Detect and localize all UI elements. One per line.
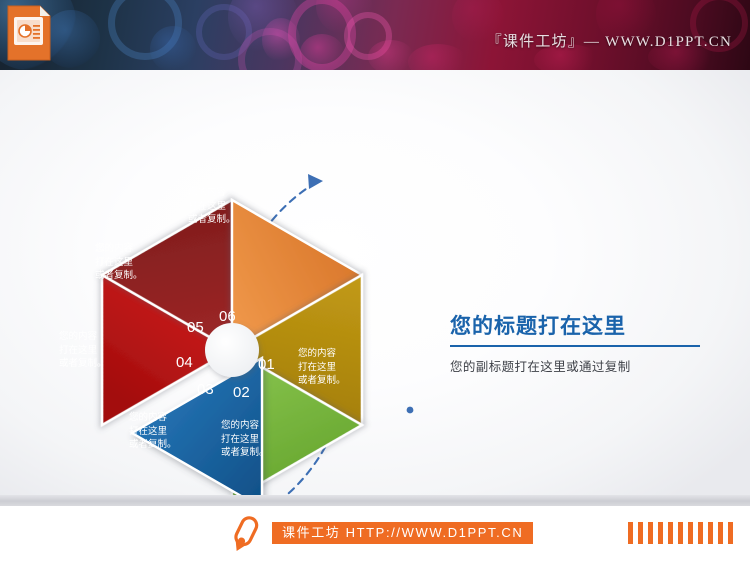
pie-slice-text-01: 您的内容 打在这里 或者复制。 [298, 347, 346, 388]
slide-header: 『课件工坊』— WWW.D1PPT.CN [0, 0, 750, 70]
footer-stripe [638, 522, 643, 544]
powerpoint-document-icon [6, 4, 52, 62]
pie-slice-number-04: 04 [176, 354, 193, 371]
slice-text-line: 您的内容 [95, 242, 143, 256]
footer-stripe [698, 522, 703, 544]
slice-text-line: 您的内容 [221, 419, 269, 433]
footer-stripe [678, 522, 683, 544]
footer-stripe [668, 522, 673, 544]
slide: 『课件工坊』— WWW.D1PPT.CN [0, 0, 750, 563]
footer-stripe [718, 522, 723, 544]
pencil-icon [228, 515, 262, 555]
footer-url-text[interactable]: 课件工坊 HTTP://WWW.D1PPT.CN [272, 522, 533, 544]
pie-slice-number-05: 05 [187, 319, 204, 336]
title-underline [450, 345, 700, 347]
slice-text-line: 您的内容 [59, 330, 107, 344]
slice-text-line: 您的内容 [298, 347, 346, 361]
footer-stripe [628, 522, 633, 544]
slice-text-line: 或者复制。 [59, 357, 107, 371]
slice-text-line: 打在这里 [59, 344, 107, 358]
slide-body: 06 05 04 03 02 01 您的内容 打在这里 或者复制。 您的内容 打… [0, 70, 750, 495]
slice-text-line: 或者复制。 [298, 374, 346, 388]
slice-text-line: 打在这里 [188, 200, 236, 214]
slice-text-line: 打在这里 [298, 361, 346, 375]
header-title: 『课件工坊』— WWW.D1PPT.CN [487, 30, 732, 51]
sub-title: 您的副标题打在这里或通过复制 [450, 356, 730, 375]
bokeh-circle [150, 26, 196, 70]
pie-slice-text-03: 您的内容 打在这里 或者复制。 [129, 411, 177, 452]
slice-text-line: 打在这里 [95, 256, 143, 270]
slice-text-line: 您的内容 [188, 186, 236, 200]
main-title: 您的标题打在这里 [450, 310, 730, 340]
slice-text-line: 打在这里 [221, 433, 269, 447]
slice-text-line: 或者复制。 [129, 438, 177, 452]
bokeh-circle [408, 44, 468, 70]
pie-slice-text-05: 您的内容 打在这里 或者复制。 [95, 242, 143, 283]
pie-slice-number-03: 03 [197, 381, 214, 398]
bokeh-circle [368, 40, 414, 70]
slice-text-line: 您的内容 [129, 411, 177, 425]
slice-text-line: 或者复制。 [95, 269, 143, 283]
pie-slice-number-02: 02 [233, 384, 250, 401]
pie-slice-text-04: 您的内容 打在这里 或者复制。 [59, 330, 107, 371]
slice-text-line: 或者复制。 [221, 446, 269, 460]
footer-divider-band [0, 495, 750, 506]
pie-slice-number-06: 06 [219, 308, 236, 325]
pie-slice-text-02: 您的内容 打在这里 或者复制。 [221, 419, 269, 460]
footer-stripe [648, 522, 653, 544]
footer-stripe [708, 522, 713, 544]
footer-stripes [628, 522, 750, 544]
footer-stripe [658, 522, 663, 544]
slice-text-line: 或者复制。 [188, 213, 236, 227]
footer-stripe [688, 522, 693, 544]
pie-slice-text-06: 您的内容 打在这里 或者复制。 [188, 186, 236, 227]
slice-text-line: 打在这里 [129, 425, 177, 439]
footer-stripe [728, 522, 733, 544]
text-block: 您的标题打在这里 您的副标题打在这里或通过复制 [450, 310, 730, 375]
pie-slice-number-01: 01 [258, 356, 275, 373]
pie-chart: 06 05 04 03 02 01 您的内容 打在这里 或者复制。 您的内容 打… [20, 142, 440, 542]
chart-hub [205, 323, 259, 377]
bokeh-circle [300, 34, 344, 70]
